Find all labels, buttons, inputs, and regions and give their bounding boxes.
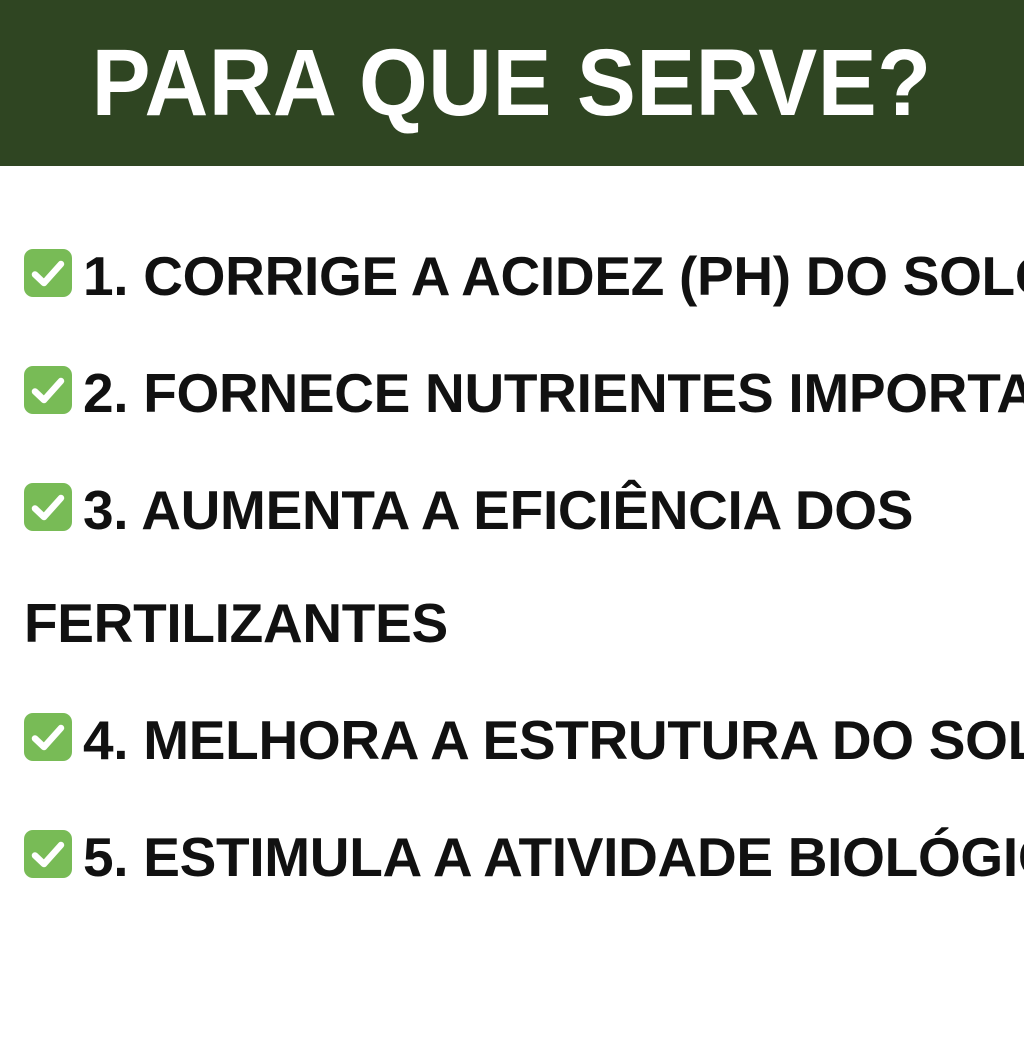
list-item-line: 1. CORRIGE A ACIDEZ (PH) DO SOLO (24, 216, 1006, 333)
white-check-mark-icon (24, 483, 72, 531)
list-item-label: 5. ESTIMULA A ATIVIDADE BIOLÓGICA (83, 826, 1024, 888)
list-item-line: 5. ESTIMULA A ATIVIDADE BIOLÓGICA (24, 797, 1006, 914)
benefits-list: 1. CORRIGE A ACIDEZ (PH) DO SOLO 2. FORN… (0, 166, 1024, 1064)
bottom-whitespace (0, 914, 1024, 1064)
list-item: 2. FORNECE NUTRIENTES IMPORTANTES (0, 333, 1024, 450)
white-check-mark-icon (24, 249, 72, 297)
list-item-line: 2. FORNECE NUTRIENTES IMPORTANTES (24, 333, 1006, 450)
list-item-label: 1. CORRIGE A ACIDEZ (PH) DO SOLO (83, 245, 1024, 307)
list-item: 3. AUMENTA A EFICIÊNCIA DOS FERTILIZANTE… (0, 450, 1024, 680)
list-item-label: 4. MELHORA A ESTRUTURA DO SOLO (83, 709, 1024, 771)
list-item: 5. ESTIMULA A ATIVIDADE BIOLÓGICA (0, 797, 1024, 914)
page-title: PARA QUE SERVE? (92, 36, 932, 131)
white-check-mark-icon (24, 713, 72, 761)
white-check-mark-icon (24, 830, 72, 878)
list-item-label-continuation: FERTILIZANTES (24, 567, 1006, 680)
list-item-line: 4. MELHORA A ESTRUTURA DO SOLO (24, 680, 1006, 797)
list-item: 1. CORRIGE A ACIDEZ (PH) DO SOLO (0, 216, 1024, 333)
list-item-line: 3. AUMENTA A EFICIÊNCIA DOS (24, 450, 1006, 567)
header-banner: PARA QUE SERVE? (0, 0, 1024, 166)
list-item-label: 3. AUMENTA A EFICIÊNCIA DOS (83, 479, 913, 541)
poster-root: PARA QUE SERVE? 1. CORRIGE A ACIDEZ (PH)… (0, 0, 1024, 1024)
list-item: 4. MELHORA A ESTRUTURA DO SOLO (0, 680, 1024, 797)
list-item-label: 2. FORNECE NUTRIENTES IMPORTANTES (83, 362, 1024, 424)
white-check-mark-icon (24, 366, 72, 414)
